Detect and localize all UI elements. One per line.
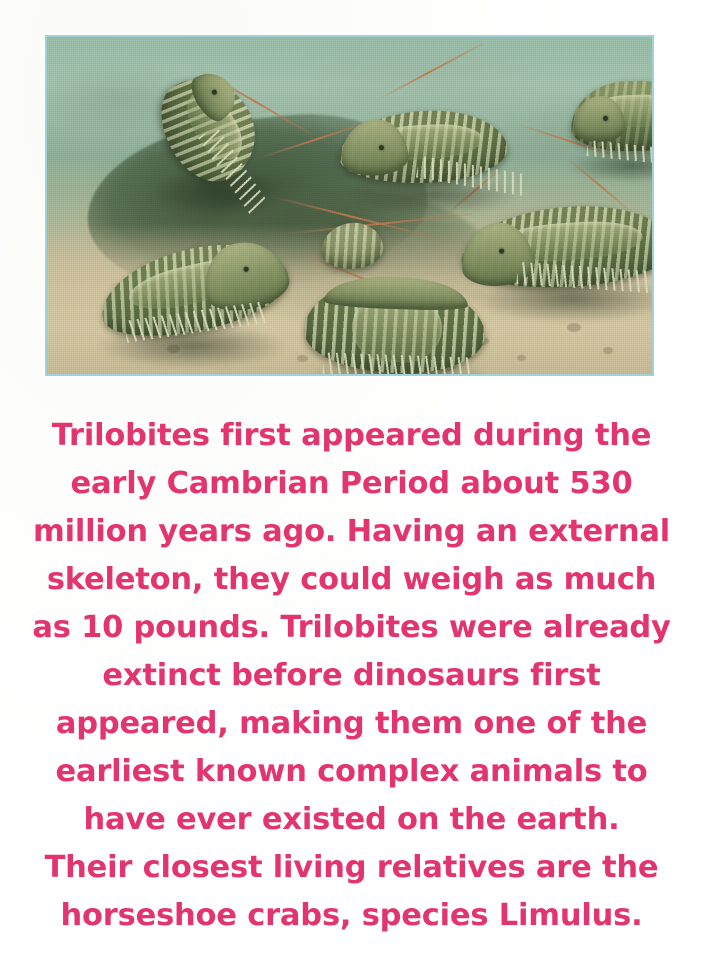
caption-line: earliest known complex animals to [0,748,703,796]
caption-line: skeleton, they could weigh as much [0,556,703,604]
card-page: Trilobites first appeared during the ear… [0,0,703,976]
caption-line: as 10 pounds. Trilobites were already [0,604,703,652]
scan-grain-overlay [47,37,652,374]
caption-line: million years ago. Having an external [0,508,703,556]
caption-line: early Cambrian Period about 530 [0,460,703,508]
caption-line: extinct before dinosaurs first [0,652,703,700]
caption-line: Trilobites first appeared during the [0,412,703,460]
caption-block: Trilobites first appeared during the ear… [0,412,703,940]
caption-line: appeared, making them one of the [0,700,703,748]
caption-line: Their closest living relatives are the [0,844,703,892]
caption-line: horseshoe crabs, species Limulus. [0,892,703,940]
trilobite-photo [47,37,652,374]
caption-line: have ever existed on the earth. [0,796,703,844]
trilobite-photo-frame [45,35,654,376]
